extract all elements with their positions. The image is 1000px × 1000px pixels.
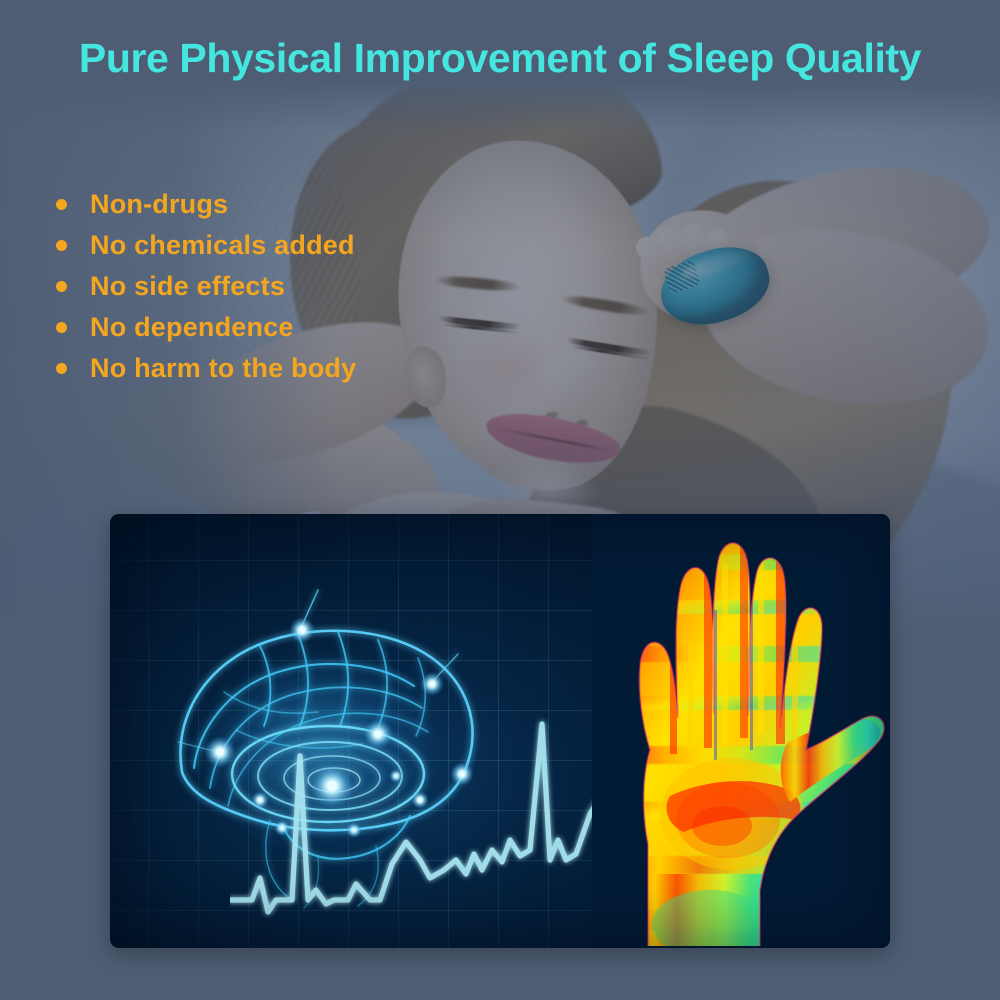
benefit-label: No chemicals added (90, 230, 355, 261)
list-item: Non-drugs (56, 184, 356, 225)
list-item: No harm to the body (56, 348, 356, 389)
bullet-dot-icon (56, 363, 67, 374)
bullet-dot-icon (56, 322, 67, 333)
bullet-dot-icon (56, 199, 67, 210)
page-title: Pure Physical Improvement of Sleep Quali… (0, 36, 1000, 81)
benefits-list: Non-drugs No chemicals added No side eff… (56, 184, 356, 389)
poster-canvas: Pure Physical Improvement of Sleep Quali… (0, 0, 1000, 1000)
ecg-waveform (230, 664, 650, 924)
benefit-label: No dependence (90, 312, 294, 343)
benefit-label: No harm to the body (90, 353, 356, 384)
bullet-dot-icon (56, 240, 67, 251)
benefit-label: Non-drugs (90, 189, 228, 220)
thermal-hand-scan (592, 514, 890, 948)
list-item: No side effects (56, 266, 356, 307)
tech-panel (110, 514, 890, 948)
thermal-hand-icon (592, 514, 890, 948)
list-item: No dependence (56, 307, 356, 348)
benefit-label: No side effects (90, 271, 285, 302)
list-item: No chemicals added (56, 225, 356, 266)
bullet-dot-icon (56, 281, 67, 292)
